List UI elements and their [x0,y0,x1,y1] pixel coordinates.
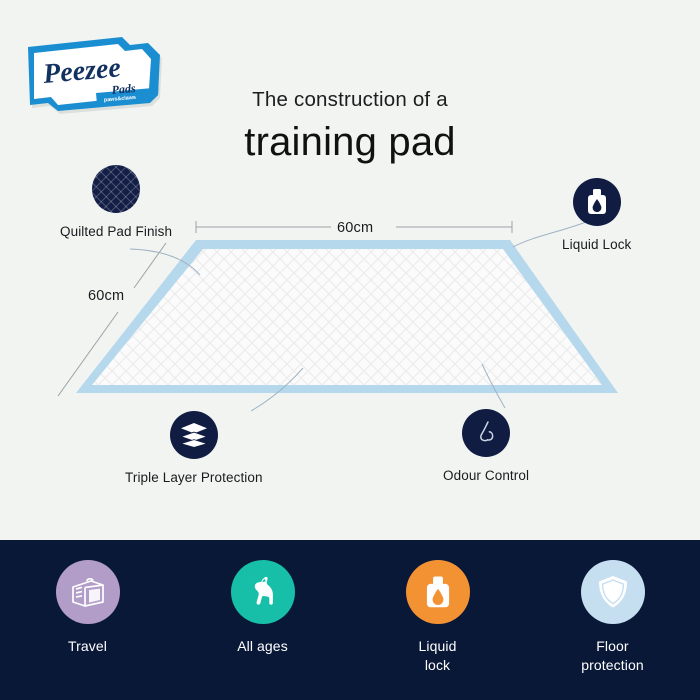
pet-carrier-icon [56,560,120,624]
quilted-pattern-icon [92,165,140,213]
benefit-label: All ages [237,637,288,656]
feature-label: Triple Layer Protection [125,470,263,485]
benefit-travel[interactable]: Travel [13,560,163,656]
benefit-label: Liquid lock [419,637,457,675]
benefit-floor-protection[interactable]: Floor protection [538,560,688,675]
benefit-label: Floor protection [581,637,643,675]
feature-label: Liquid Lock [562,237,631,252]
benefit-label: Travel [68,637,107,656]
padlock-droplet-glyph [584,188,610,216]
benefits-bar: Travel All ages [0,540,700,700]
feature-label: Quilted Pad Finish [60,224,172,239]
feature-quilted-pad-finish[interactable]: Quilted Pad Finish [60,165,172,239]
feature-triple-layer-protection[interactable]: Triple Layer Protection [125,411,263,485]
padlock-droplet-icon [406,560,470,624]
benefit-all-ages[interactable]: All ages [188,560,338,656]
shield-icon [581,560,645,624]
sitting-dog-glyph [245,574,281,610]
stacked-layers-glyph [180,422,208,448]
feature-liquid-lock[interactable]: Liquid Lock [562,178,631,252]
padlock-droplet-icon [573,178,621,226]
stacked-layers-icon [170,411,218,459]
dimension-label-top: 60cm [337,220,373,236]
feature-odour-control[interactable]: Odour Control [443,409,529,483]
padlock-droplet-glyph [422,575,454,610]
pad-diagram [0,0,700,540]
pet-carrier-glyph [69,576,107,608]
sitting-dog-icon [231,560,295,624]
nose-glyph [473,419,499,447]
dimension-label-left: 60cm [88,288,124,304]
feature-label: Odour Control [443,468,529,483]
infographic-canvas: paws&claws Peezee Pads The construction … [0,0,700,700]
pad-artwork [0,0,700,540]
nose-icon [462,409,510,457]
shield-glyph [596,574,630,610]
benefit-liquid-lock[interactable]: Liquid lock [363,560,513,675]
